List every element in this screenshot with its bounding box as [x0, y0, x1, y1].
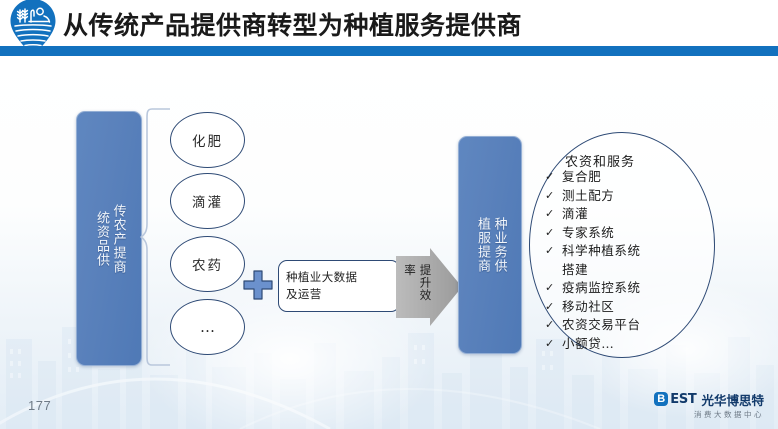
services-list-item: ✓科学种植系统: [545, 242, 705, 261]
services-list-item: ✓专家系统: [545, 224, 705, 243]
product-oval[interactable]: 滴灌: [170, 173, 245, 229]
middle-platform-line1: 种植业大数据: [286, 270, 357, 284]
product-oval[interactable]: 农药: [170, 236, 245, 292]
middle-platform-box[interactable]: 种植业大数据及运营: [278, 260, 400, 312]
product-oval-label: 滴灌: [192, 191, 223, 211]
right-entity-label-col1: 种业务供: [490, 217, 507, 273]
title-underline-bar: [0, 46, 778, 56]
services-list-item-label: 移动社区: [562, 298, 614, 317]
left-entity-label-col1: 传农产提商: [109, 204, 126, 274]
services-list-item: ✓测土配方: [545, 187, 705, 206]
services-list: ✓复合肥✓测土配方✓滴灌✓专家系统✓科学种植系统✓搭建✓疫病监控系统✓移动社区✓…: [545, 168, 705, 353]
services-list-item: ✓疫病监控系统: [545, 279, 705, 298]
check-icon: ✓: [545, 279, 557, 296]
check-icon: ✓: [545, 242, 557, 259]
product-oval[interactable]: …: [170, 299, 245, 355]
left-brace-connector: [140, 106, 172, 368]
services-list-item-label: 小额贷…: [562, 335, 614, 354]
check-icon: ✓: [545, 205, 557, 222]
services-list-item-label: 搭建: [562, 261, 588, 280]
page-title: 从传统产品提供商转型为种植服务提供商: [63, 6, 522, 42]
product-oval-label: …: [200, 318, 215, 336]
product-oval-label: 农药: [192, 254, 223, 274]
services-list-item: ✓农资交易平台: [545, 316, 705, 335]
brand-mark-icon: B: [654, 392, 668, 406]
brand-name-cn: 光华博思特: [701, 390, 764, 409]
brand-logo: B EST 光华博思特 消费大数据中心: [642, 391, 764, 421]
middle-platform-label: 种植业大数据及运营: [286, 269, 357, 302]
services-list-item-label: 疫病监控系统: [562, 279, 641, 298]
product-oval[interactable]: 化肥: [170, 112, 245, 168]
services-list-item: ✓滴灌: [545, 205, 705, 224]
product-oval-label: 化肥: [192, 130, 223, 150]
brand-logo-row: B EST 光华博思特: [642, 391, 764, 407]
services-list-item: ✓小额贷…: [545, 335, 705, 354]
left-entity-label-col2: 统资品供: [92, 211, 109, 267]
middle-platform-line2: 及运营: [286, 287, 322, 301]
check-icon: ✓: [545, 316, 557, 333]
slide: 从传统产品提供商转型为种植服务提供商 统资品供 传农产提商 化肥 滴灌 农药 …: [0, 0, 778, 429]
check-icon: ✓: [545, 224, 557, 241]
plus-icon: [242, 269, 274, 301]
efficiency-arrow-label-wrap: 提升效率: [404, 264, 430, 310]
check-icon: ✓: [545, 187, 557, 204]
services-list-item-label: 科学种植系统: [562, 242, 641, 261]
brand-name: EST: [670, 392, 696, 407]
services-list-item-label: 农资交易平台: [562, 316, 641, 335]
diagram-canvas: 统资品供 传农产提商 化肥 滴灌 农药 … 种植业大数据及运营: [0, 56, 778, 429]
services-list-item-label: 复合肥: [562, 168, 601, 187]
page-number: 177: [28, 398, 51, 413]
check-icon: ✓: [545, 335, 557, 352]
services-list-item-label: 滴灌: [562, 205, 588, 224]
efficiency-arrow-label: 提升效率: [401, 264, 432, 310]
services-list-item: ✓移动社区: [545, 298, 705, 317]
services-list-item-label: 专家系统: [562, 224, 614, 243]
right-entity-box[interactable]: 植服提商 种业务供: [458, 136, 522, 354]
left-entity-box[interactable]: 统资品供 传农产提商: [76, 111, 142, 366]
check-icon: ✓: [545, 168, 557, 185]
check-icon: ✓: [545, 298, 557, 315]
services-list-item: ✓复合肥: [545, 168, 705, 187]
right-entity-label-col2: 植服提商: [473, 217, 490, 273]
services-list-item-label: 测土配方: [562, 187, 614, 206]
brand-subtitle: 消费大数据中心: [642, 409, 764, 420]
services-list-item: ✓搭建: [545, 261, 705, 280]
